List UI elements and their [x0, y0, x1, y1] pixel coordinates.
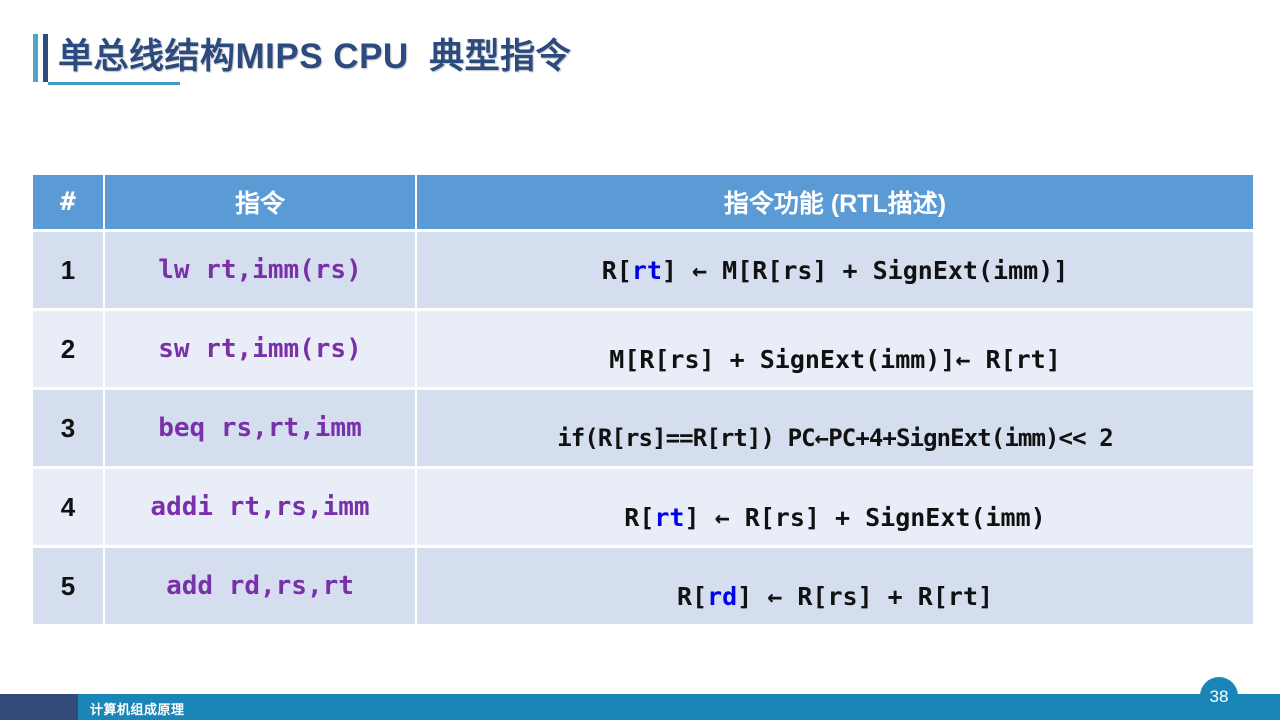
row-number: 1	[33, 232, 105, 311]
column-header-instruction: 指令	[105, 175, 417, 232]
footer-bar: 计算机组成原理	[0, 694, 1280, 720]
row-number: 5	[33, 548, 105, 627]
instruction-mnemonic: add rd,rs,rt	[105, 548, 417, 627]
rtl-suffix: ] ← M[R[rs] + SignExt(imm)]	[662, 256, 1068, 285]
title-bar-left	[33, 34, 38, 82]
table-header: # 指令 指令功能 (RTL描述)	[33, 175, 1253, 232]
table-row: 2sw rt,imm(rs)M[R[rs] + SignExt(imm)]← R…	[33, 311, 1253, 390]
column-header-function: 指令功能 (RTL描述)	[417, 175, 1253, 232]
slide-header: 单总线结构MIPS CPU 典型指令	[0, 22, 1280, 102]
column-header-number: #	[33, 175, 105, 232]
rtl-text: R[rt] ← R[rs] + SignExt(imm)	[624, 503, 1045, 532]
rtl-text: R[rd] ← R[rs] + R[rt]	[677, 582, 993, 611]
table-row: 5add rd,rs,rtR[rd] ← R[rs] + R[rt]	[33, 548, 1253, 627]
rtl-destination-register: rt	[632, 256, 662, 285]
row-number: 3	[33, 390, 105, 469]
rtl-expression: M[R[rs] + SignExt(imm)]← R[rt]	[609, 345, 1061, 374]
title-bar-right	[43, 34, 48, 82]
rtl-description: R[rd] ← R[rs] + R[rt]	[417, 548, 1253, 627]
table-row: 4addi rt,rs,immR[rt] ← R[rs] + SignExt(i…	[33, 469, 1253, 548]
table-row: 3beq rs,rt,immif(R[rs]==R[rt]) PC←PC+4+S…	[33, 390, 1253, 469]
row-number: 2	[33, 311, 105, 390]
rtl-text: R[rt] ← M[R[rs] + SignExt(imm)]	[602, 256, 1069, 285]
instruction-table: # 指令 指令功能 (RTL描述) 1lw rt,imm(rs)R[rt] ← …	[33, 175, 1253, 627]
footer-course-label: 计算机组成原理	[90, 699, 185, 718]
rtl-prefix: R[	[677, 582, 707, 611]
table-row: 1lw rt,imm(rs)R[rt] ← M[R[rs] + SignExt(…	[33, 232, 1253, 311]
table-body: 1lw rt,imm(rs)R[rt] ← M[R[rs] + SignExt(…	[33, 232, 1253, 627]
table-header-row: # 指令 指令功能 (RTL描述)	[33, 175, 1253, 232]
instruction-mnemonic: beq rs,rt,imm	[105, 390, 417, 469]
rtl-suffix: ] ← R[rs] + SignExt(imm)	[684, 503, 1045, 532]
rtl-destination-register: rd	[707, 582, 737, 611]
rtl-description: if(R[rs]==R[rt]) PC←PC+4+SignExt(imm)<< …	[417, 390, 1253, 469]
page-number-badge: 38	[1200, 677, 1238, 715]
instruction-mnemonic: lw rt,imm(rs)	[105, 232, 417, 311]
title-underline	[48, 82, 180, 85]
rtl-description: M[R[rs] + SignExt(imm)]← R[rt]	[417, 311, 1253, 390]
rtl-destination-register: rt	[654, 503, 684, 532]
instruction-mnemonic: sw rt,imm(rs)	[105, 311, 417, 390]
instruction-mnemonic: addi rt,rs,imm	[105, 469, 417, 548]
rtl-prefix: R[	[602, 256, 632, 285]
rtl-suffix: ] ← R[rs] + R[rt]	[737, 582, 993, 611]
rtl-expression: if(R[rs]==R[rt]) PC←PC+4+SignExt(imm)<< …	[557, 424, 1113, 452]
rtl-prefix: R[	[624, 503, 654, 532]
rtl-text: M[R[rs] + SignExt(imm)]← R[rt]	[609, 345, 1061, 374]
title-decoration-bars-icon	[33, 34, 55, 82]
footer-accent-block	[0, 694, 78, 720]
rtl-description: R[rt] ← M[R[rs] + SignExt(imm)]	[417, 232, 1253, 311]
rtl-description: R[rt] ← R[rs] + SignExt(imm)	[417, 469, 1253, 548]
row-number: 4	[33, 469, 105, 548]
page-title: 单总线结构MIPS CPU 典型指令	[58, 28, 571, 79]
rtl-text: if(R[rs]==R[rt]) PC←PC+4+SignExt(imm)<< …	[557, 424, 1113, 452]
